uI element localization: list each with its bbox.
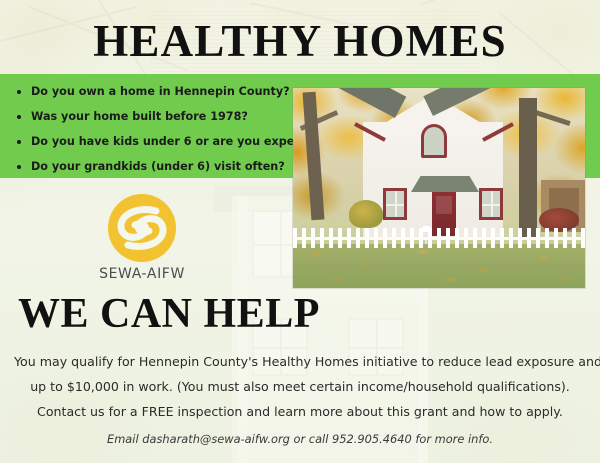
qualify-questions-list: Do you own a home in Hennepin County? Wa… — [14, 81, 290, 181]
healthy-homes-flyer: HEALTHY HOMES Do you own a home in Henne… — [0, 0, 600, 463]
contact-footer: Email dasharath@sewa-aifw.org or call 95… — [0, 430, 600, 448]
body-line: You may qualify for Hennepin County's He… — [14, 349, 586, 374]
leaf-covered-lawn — [293, 244, 585, 288]
house-photo — [293, 88, 585, 288]
list-item: Do you have kids under 6 or are you expe… — [14, 131, 290, 153]
attic-window — [421, 124, 447, 158]
porch-roof — [411, 176, 479, 192]
body-paragraph: You may qualify for Hennepin County's He… — [14, 349, 586, 424]
front-door-panel — [436, 196, 452, 214]
house-window — [479, 188, 503, 220]
tree-trunk — [519, 98, 537, 238]
body-line: Contact us for a FREE inspection and lea… — [14, 399, 586, 424]
house-window — [383, 188, 407, 220]
garden-shrub — [349, 200, 383, 228]
list-item: Do you own a home in Hennepin County? — [14, 81, 290, 103]
page-title: HEALTHY HOMES — [0, 16, 600, 66]
sewa-aifw-logo: SEWA-AIFW — [84, 192, 200, 286]
sewa-aifw-label: SEWA-AIFW — [84, 266, 200, 282]
list-item: Do your grandkids (under 6) visit often? — [14, 156, 290, 178]
body-line: up to $10,000 in work. (You must also me… — [14, 374, 586, 399]
subheading: WE CAN HELP — [18, 291, 320, 337]
picket-fence-rail — [293, 237, 585, 240]
sewa-swirl-icon — [106, 192, 178, 264]
list-item: Was your home built before 1978? — [14, 106, 290, 128]
